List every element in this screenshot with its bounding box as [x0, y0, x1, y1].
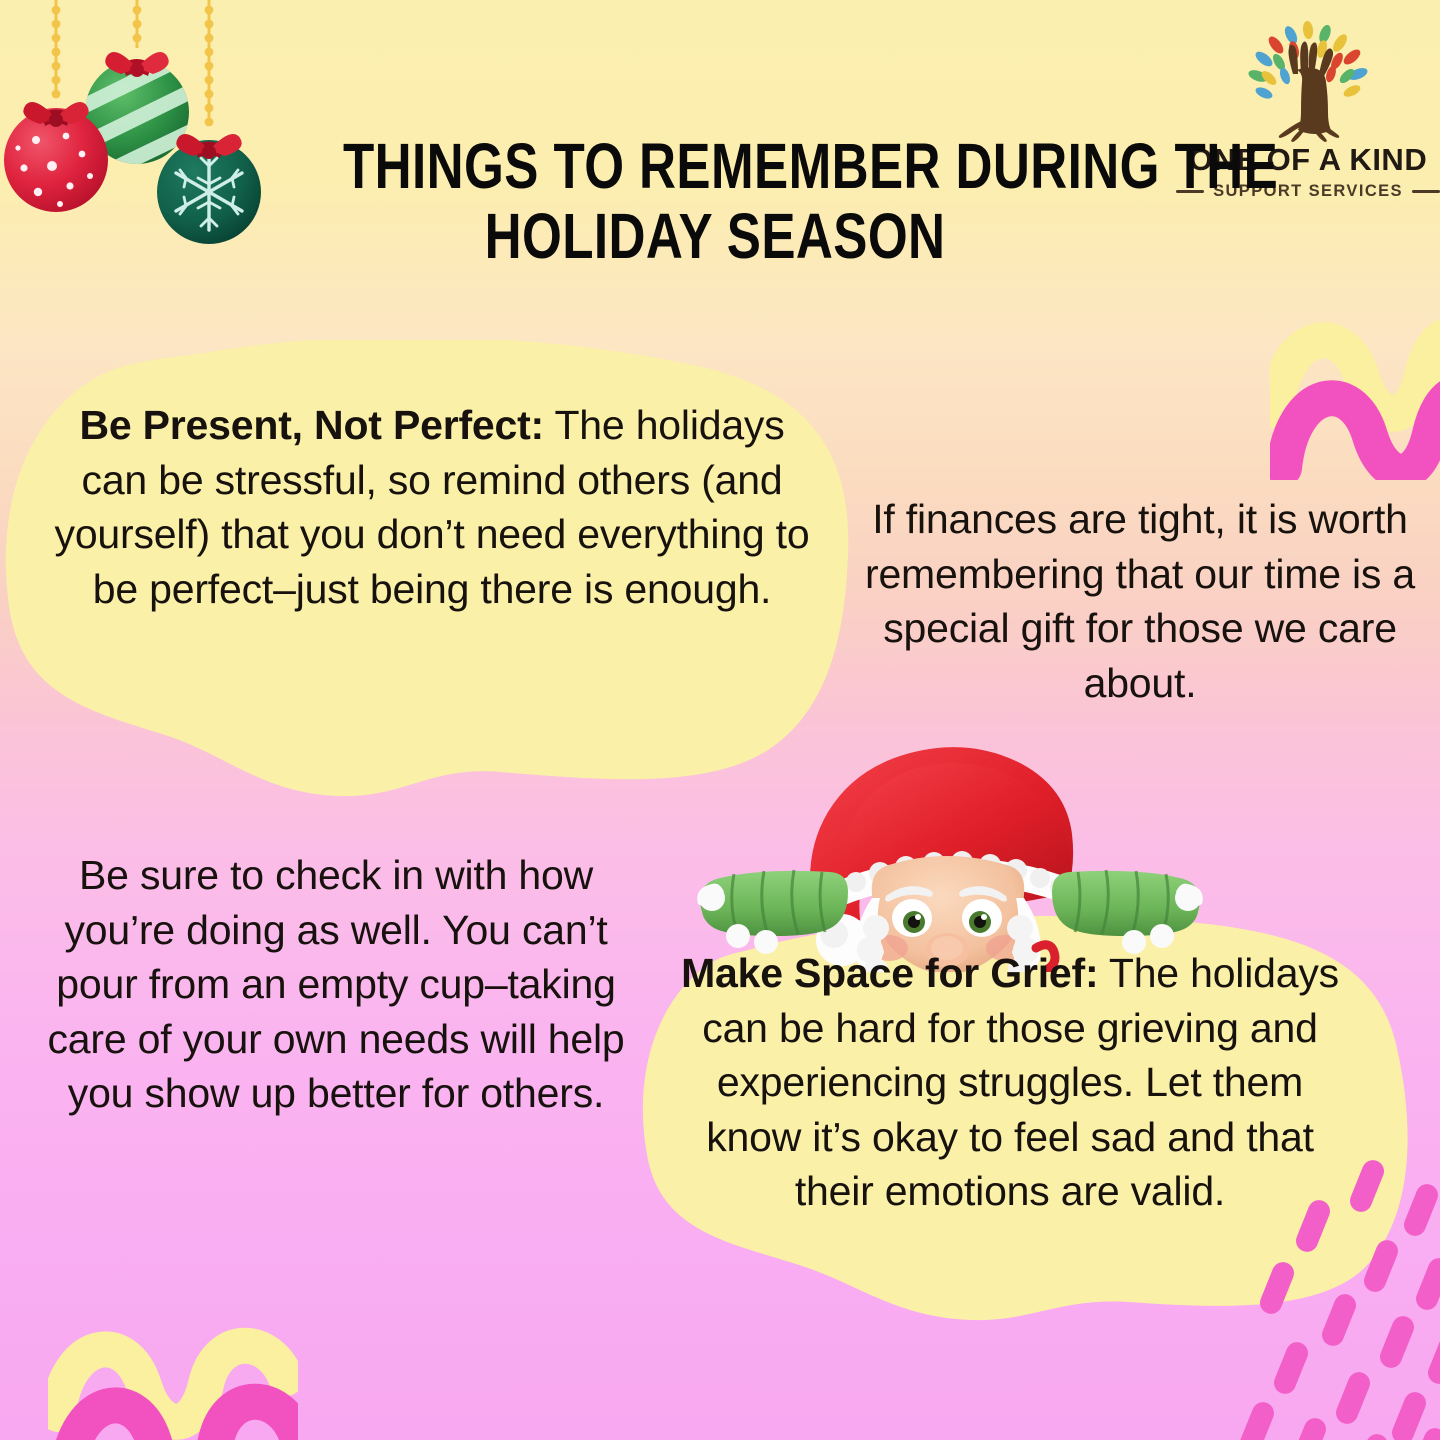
poster-canvas: ONE OF A KIND SUPPORT SERVICES THINGS TO…	[0, 0, 1440, 1440]
tip-card-finances: If finances are tight, it is worth remem…	[862, 492, 1418, 710]
wave-top-right	[1270, 300, 1440, 480]
tip-heading-4: Make Space for Grief:	[681, 950, 1098, 996]
tip-card-make-space-for-grief: Make Space for Grief: The holidays can b…	[676, 946, 1344, 1219]
christmas-ornaments-icon	[0, 0, 294, 270]
santa-claus-peeking-icon	[690, 722, 1210, 972]
tip-heading-1: Be Present, Not Perfect:	[79, 402, 544, 448]
page-title: THINGS TO REMEMBER DURING THE HOLIDAY SE…	[343, 132, 1087, 272]
title-line-2: HOLIDAY SEASON	[343, 202, 1087, 272]
tip-card-be-present: Be Present, Not Perfect: The holidays ca…	[52, 398, 812, 616]
tip-card-check-in: Be sure to check in with how you’re doin…	[44, 848, 628, 1121]
title-line-1: THINGS TO REMEMBER DURING THE	[343, 132, 1087, 202]
tip-body-2: If finances are tight, it is worth remem…	[865, 496, 1415, 706]
logo-rule-right	[1412, 190, 1440, 193]
tip-body-3: Be sure to check in with how you’re doin…	[47, 852, 624, 1116]
wave-bottom-left	[48, 1306, 298, 1440]
tree-with-hands-logo-icon	[1233, 14, 1383, 142]
